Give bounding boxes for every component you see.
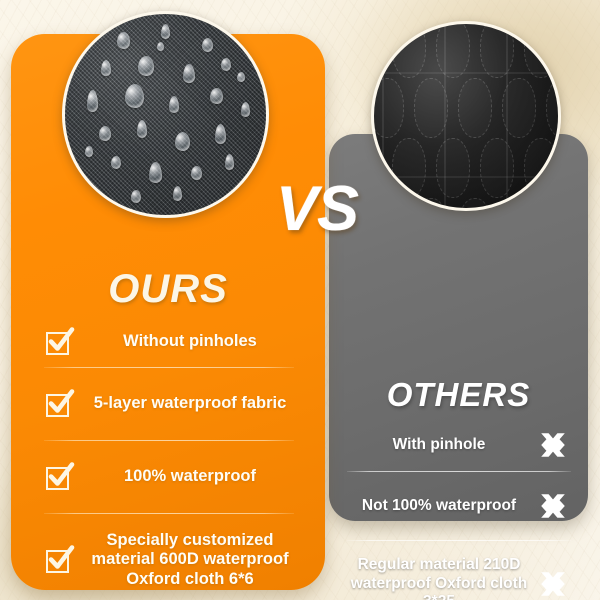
weave-pattern bbox=[65, 14, 266, 215]
x-mark-icon bbox=[539, 431, 567, 459]
others-feature-row-2: Not 100% waterproof bbox=[341, 472, 577, 540]
ours-feature-row-4: Specially customized material 600D water… bbox=[33, 514, 305, 600]
ours-feature-label-1: Without pinholes bbox=[81, 332, 305, 351]
others-feature-row-3: Regular material 210D waterproof Oxford … bbox=[341, 541, 577, 600]
others-title: OTHERS bbox=[329, 378, 588, 411]
others-feature-row-1: With pinhole bbox=[341, 419, 577, 471]
checkbox-checked-icon bbox=[45, 545, 75, 575]
checkbox-checked-icon bbox=[45, 462, 75, 492]
ours-feature-row-2: 5-layer waterproof fabric bbox=[33, 368, 305, 440]
others-feature-label-1: With pinhole bbox=[341, 436, 533, 455]
comparison-infographic: OTHERS With pinhole Not 100% waterproof bbox=[0, 0, 600, 600]
vs-badge: VS bbox=[276, 178, 358, 241]
others-feature-label-3: Regular material 210D waterproof Oxford … bbox=[341, 556, 533, 600]
checkbox-checked-icon bbox=[45, 389, 75, 419]
ours-feature-label-4: Specially customized material 600D water… bbox=[81, 531, 305, 589]
x-mark-icon bbox=[539, 492, 567, 520]
others-feature-label-2: Not 100% waterproof bbox=[341, 497, 533, 516]
quilt-sheen bbox=[374, 24, 558, 208]
others-feature-list: With pinhole Not 100% waterproof bbox=[341, 419, 577, 600]
ours-feature-label-3: 100% waterproof bbox=[81, 467, 305, 486]
ours-feature-list: Without pinholes 5-layer waterproof fabr… bbox=[33, 317, 305, 600]
x-mark-icon bbox=[539, 570, 567, 598]
ours-feature-row-3: 100% waterproof bbox=[33, 441, 305, 513]
others-fabric-photo bbox=[371, 21, 561, 211]
ours-feature-label-2: 5-layer waterproof fabric bbox=[81, 394, 305, 413]
checkbox-checked-icon bbox=[45, 327, 75, 357]
ours-fabric-photo bbox=[62, 11, 269, 218]
ours-title: OURS bbox=[11, 269, 325, 309]
ours-feature-row-1: Without pinholes bbox=[33, 317, 305, 367]
